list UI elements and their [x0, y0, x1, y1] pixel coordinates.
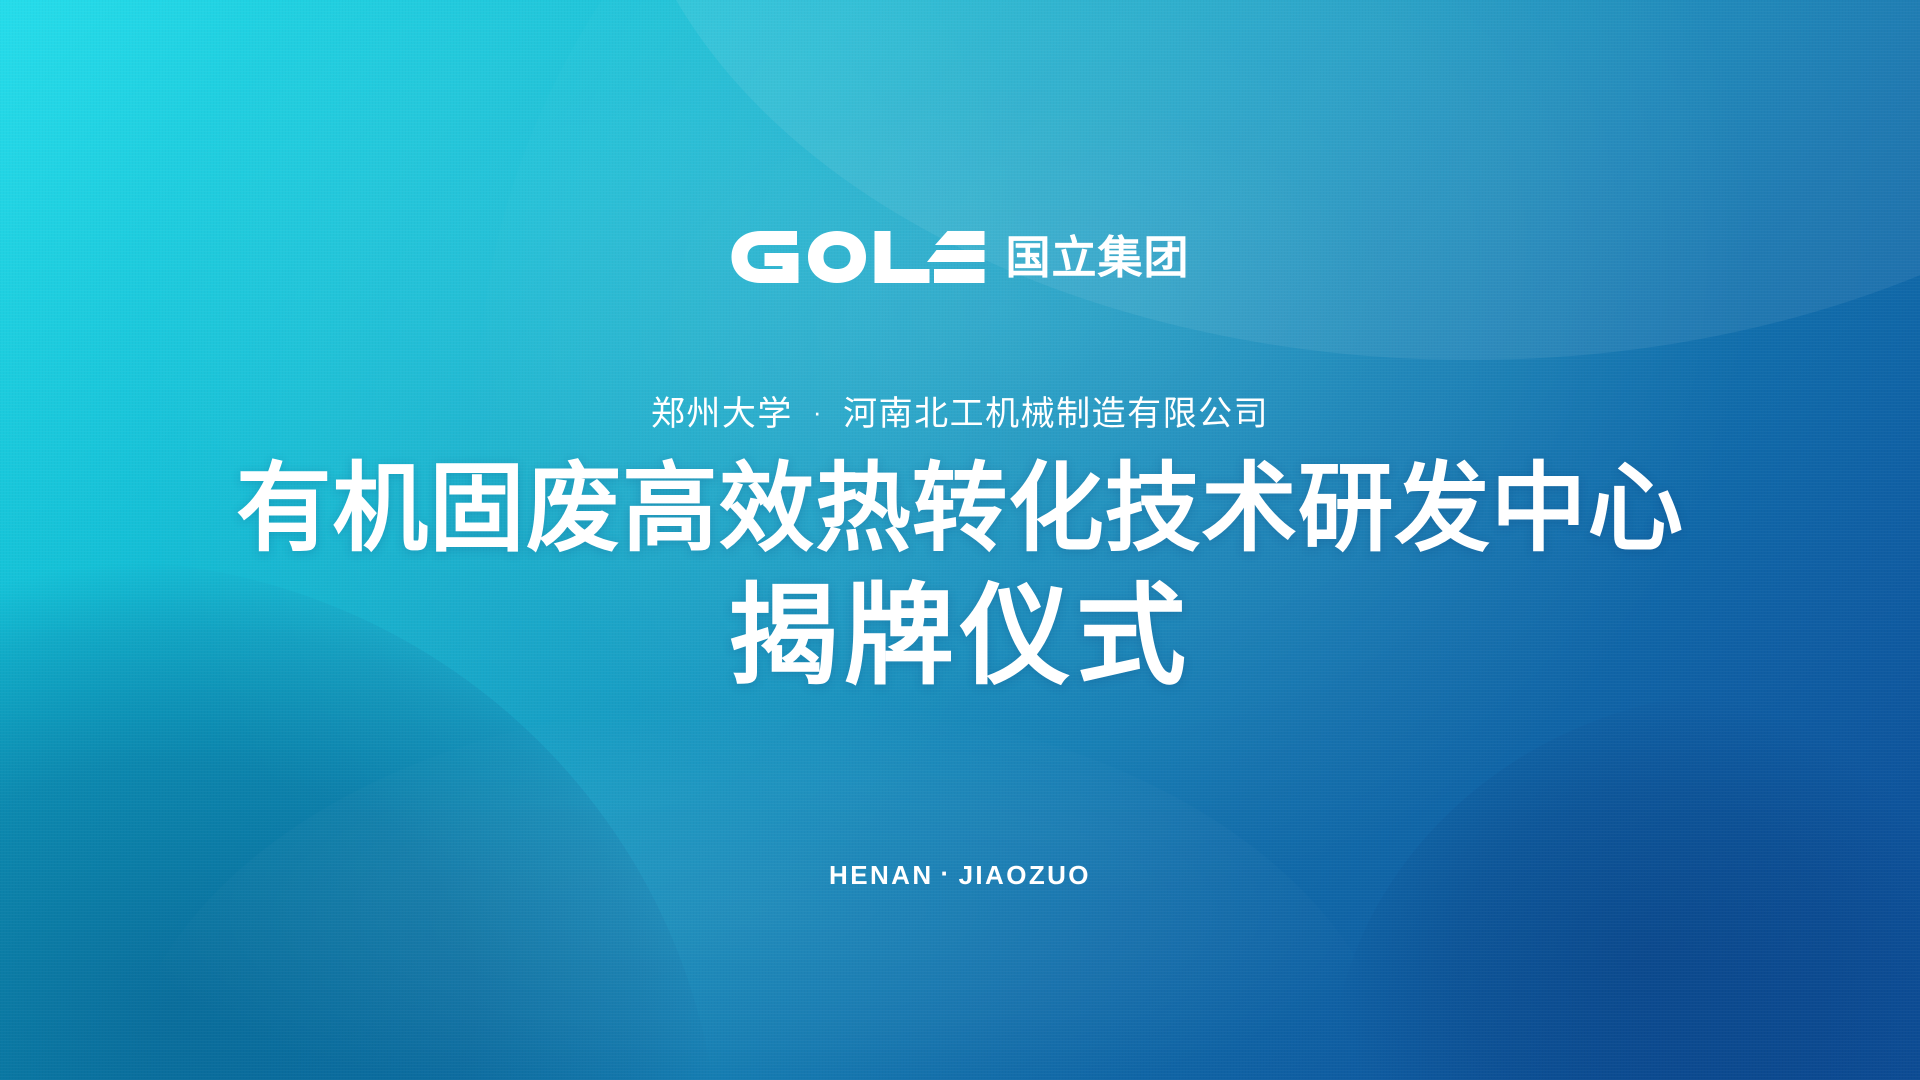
- organization-second: 河南北工机械制造有限公司: [843, 395, 1269, 433]
- organization-first: 郑州大学: [651, 395, 793, 433]
- brand-chinese-name: 国立集团: [1005, 235, 1189, 280]
- page-title-line-2: 揭牌仪式: [0, 572, 1920, 702]
- page-title: 有机固废高效热转化技术研发中心 揭牌仪式: [0, 452, 1920, 702]
- footer-city: JIAOZUO: [959, 860, 1091, 890]
- organization-separator: ·: [793, 397, 843, 428]
- slide-content: 国立集团 郑州大学·河南北工机械制造有限公司 有机固废高效热转化技术研发中心 揭…: [0, 0, 1920, 1080]
- brand-logo-lockup: 国立集团: [730, 228, 1189, 286]
- organizations-line: 郑州大学·河南北工机械制造有限公司: [0, 386, 1920, 435]
- footer-location: HENAN·JIAOZUO: [0, 858, 1920, 891]
- footer-province: HENAN: [829, 860, 933, 890]
- footer-separator: ·: [934, 858, 959, 889]
- title-slide: 国立集团 郑州大学·河南北工机械制造有限公司 有机固废高效热转化技术研发中心 揭…: [0, 0, 1920, 1080]
- gole-wordmark-logo: [730, 231, 985, 283]
- page-title-line-1: 有机固废高效热转化技术研发中心: [14, 452, 1905, 566]
